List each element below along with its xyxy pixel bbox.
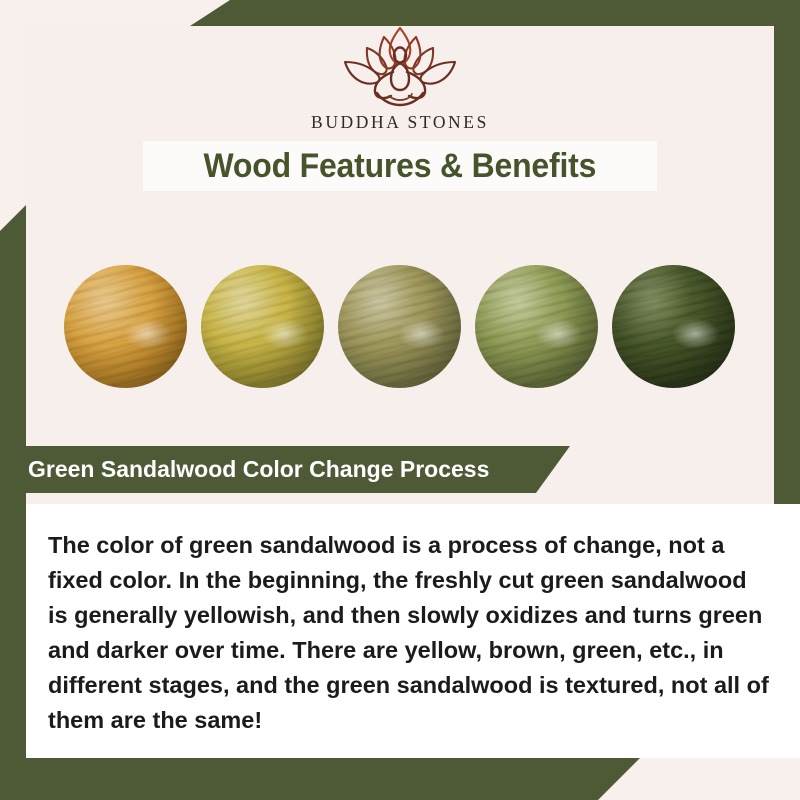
bead-shading — [64, 265, 187, 388]
body-text-box: The color of green sandalwood is a proce… — [26, 504, 800, 758]
bead-stage-4 — [475, 265, 598, 388]
bead-stage-5 — [612, 265, 735, 388]
page-title: Wood Features & Benefits — [204, 147, 597, 186]
bead-shading — [475, 265, 598, 388]
bead-stage-3 — [338, 265, 461, 388]
bead-stage-2 — [201, 265, 324, 388]
section-title: Green Sandalwood Color Change Process — [28, 456, 489, 483]
bead-shading — [612, 265, 735, 388]
bead-stage-1 — [64, 265, 187, 388]
headline-band: Wood Features & Benefits — [143, 141, 657, 191]
brand-logo-block: BUDDHA STONES — [0, 22, 800, 133]
brand-wordmark: BUDDHA STONES — [311, 112, 489, 133]
section-banner: Green Sandalwood Color Change Process — [0, 446, 570, 493]
body-paragraph: The color of green sandalwood is a proce… — [26, 504, 800, 738]
frame-bottom-bar — [0, 758, 640, 800]
lotus-meditation-icon — [315, 22, 485, 110]
bead-color-stages — [0, 265, 800, 392]
bead-shading — [201, 265, 324, 388]
bead-shading — [338, 265, 461, 388]
poster-root: BUDDHA STONES Wood Features & Benefits — [0, 0, 800, 800]
